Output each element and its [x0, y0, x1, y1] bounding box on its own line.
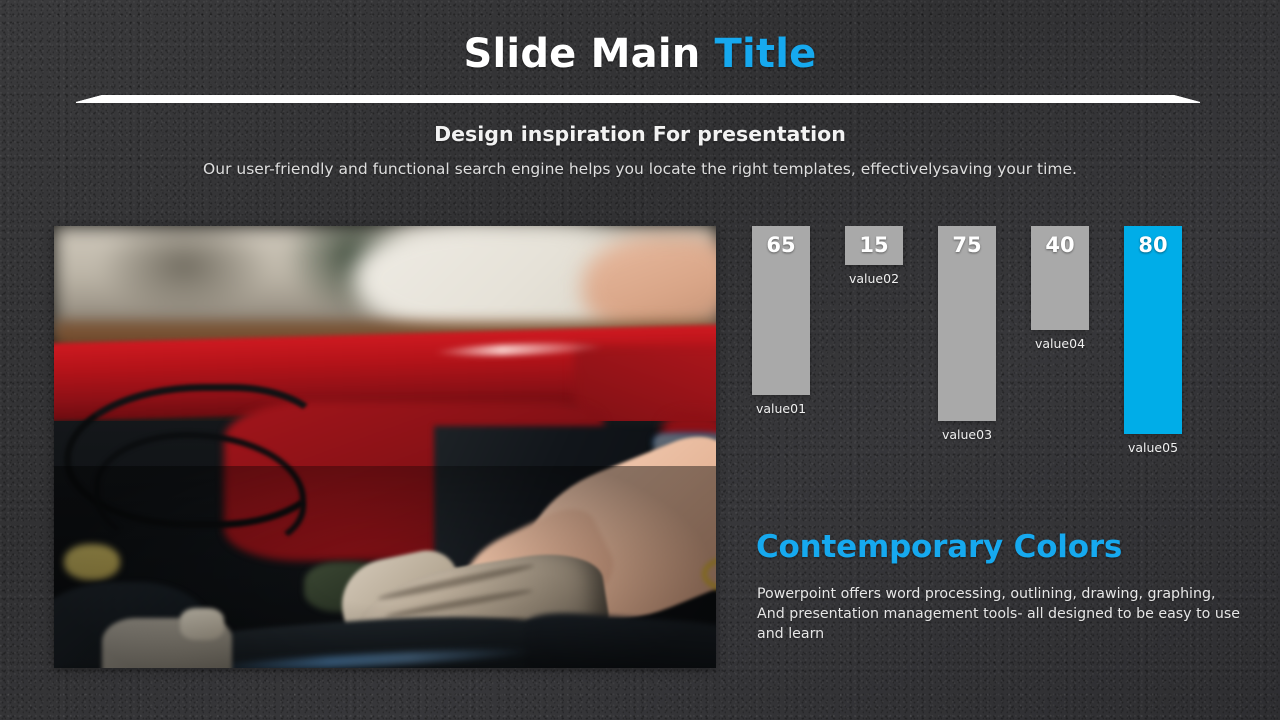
bar-value-value01: 65: [752, 233, 810, 257]
bar-label-value04: value04: [1031, 336, 1089, 351]
presentation-slide: Slide Main Title Design inspiration For …: [0, 0, 1280, 720]
title-main-text: Slide Main: [464, 31, 715, 77]
bar-value02[interactable]: 15: [845, 226, 903, 265]
mechanic-photo: [54, 226, 716, 668]
bar-value04[interactable]: 40: [1031, 226, 1089, 330]
contemporary-colors-body: Powerpoint offers word processing, outli…: [757, 584, 1187, 644]
bar-column-value03[interactable]: 75value03: [938, 226, 996, 486]
bar-value03[interactable]: 75: [938, 226, 996, 421]
title-accent-text: Title: [715, 31, 817, 77]
slide-subtext: Our user-friendly and functional search …: [0, 160, 1280, 178]
bar-label-value01: value01: [752, 401, 810, 416]
body-line-3: and learn: [757, 624, 1187, 644]
body-line-1: Powerpoint offers word processing, outli…: [757, 584, 1187, 604]
contemporary-colors-heading: Contemporary Colors: [756, 529, 1122, 565]
bar-chart: 65value0115value0275value0340value0480va…: [752, 226, 1212, 486]
bar-value-value04: 40: [1031, 233, 1089, 257]
photo-background-arm: [582, 236, 716, 332]
bar-value-value02: 15: [845, 233, 903, 257]
bar-column-value05[interactable]: 80value05: [1124, 226, 1182, 486]
bar-label-value02: value02: [845, 271, 903, 286]
page-title: Slide Main Title: [0, 32, 1280, 76]
bar-value-value03: 75: [938, 233, 996, 257]
body-line-2: And presentation management tools- all d…: [757, 604, 1187, 624]
bar-value-value05: 80: [1124, 233, 1182, 257]
title-divider: [76, 92, 1200, 103]
slide-subheading: Design inspiration For presentation: [0, 122, 1280, 146]
photo-vignette: [54, 466, 716, 668]
bar-label-value05: value05: [1124, 440, 1182, 455]
bar-column-value01[interactable]: 65value01: [752, 226, 810, 486]
bar-value05[interactable]: 80: [1124, 226, 1182, 434]
tapered-rule-icon: [76, 92, 1200, 103]
bar-column-value04[interactable]: 40value04: [1031, 226, 1089, 486]
bar-value01[interactable]: 65: [752, 226, 810, 395]
bar-column-value02[interactable]: 15value02: [845, 226, 903, 486]
bar-label-value03: value03: [938, 427, 996, 442]
